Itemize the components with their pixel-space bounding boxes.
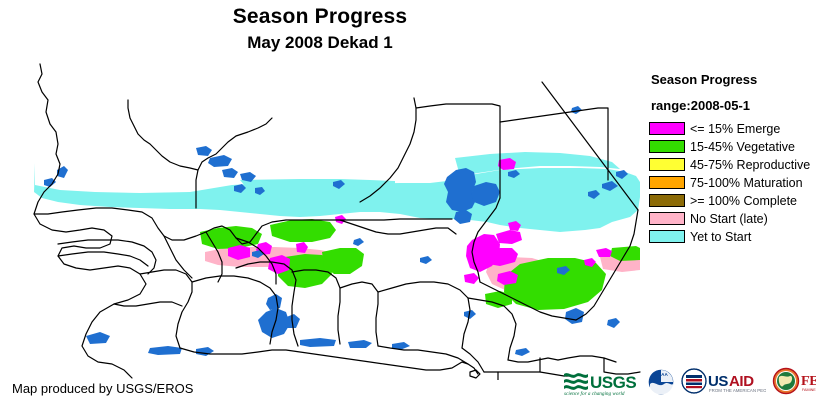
legend-label-yet-to-start: Yet to Start (690, 230, 751, 244)
legend-title: Season Progress (651, 72, 816, 87)
fewsnet-logo[interactable]: FEWS NET FAMINE EARLY WARNING SYSTEMS NE… (772, 367, 816, 397)
legend-item-complete[interactable]: >= 100% Complete (649, 192, 816, 209)
legend-swatch-emerge (649, 122, 685, 135)
legend-swatch-maturation (649, 176, 685, 189)
legend-item-emerge[interactable]: <= 15% Emerge (649, 120, 816, 137)
logo-bar: USGS science for a changing world NOAA U… (563, 365, 816, 399)
legend-item-yet-to-start[interactable]: Yet to Start (649, 228, 816, 245)
season-progress-map[interactable] (0, 62, 645, 380)
svg-text:NOAA: NOAA (654, 372, 668, 377)
legend-item-reproductive[interactable]: 45-75% Reproductive (649, 156, 816, 173)
legend-item-vegetative[interactable]: 15-45% Vegetative (649, 138, 816, 155)
footer-credit: Map produced by USGS/EROS (12, 381, 193, 396)
legend-swatch-complete (649, 194, 685, 207)
legend-item-no-start-late[interactable]: No Start (late) (649, 210, 816, 227)
legend-label-no-start-late: No Start (late) (690, 212, 768, 226)
usgs-logo[interactable]: USGS science for a changing world (563, 367, 641, 397)
legend-label-emerge: <= 15% Emerge (690, 122, 780, 136)
svg-text:science for a changing world: science for a changing world (564, 390, 625, 397)
legend-swatch-vegetative (649, 140, 685, 153)
map-panel[interactable] (0, 62, 645, 380)
legend-swatch-yet-to-start (649, 230, 685, 243)
page-subtitle: May 2008 Dekad 1 (0, 32, 640, 54)
legend-item-maturation[interactable]: 75-100% Maturation (649, 174, 816, 191)
legend-range: range:2008-05-1 (651, 98, 816, 113)
svg-text:USGS: USGS (590, 373, 636, 392)
legend-label-maturation: 75-100% Maturation (690, 176, 803, 190)
legend-swatch-no-start-late (649, 212, 685, 225)
usaid-logo[interactable]: US AID FROM THE AMERICAN PEOPLE (681, 367, 766, 397)
noaa-logo[interactable]: NOAA (647, 367, 675, 397)
svg-text:FEWS NET: FEWS NET (801, 374, 816, 389)
legend-label-reproductive: 45-75% Reproductive (690, 158, 810, 172)
title-block: Season Progress May 2008 Dekad 1 (0, 4, 640, 54)
legend-panel: Season Progress range:2008-05-1 <= 15% E… (649, 72, 816, 246)
legend-label-vegetative: 15-45% Vegetative (690, 140, 795, 154)
page-title: Season Progress (0, 4, 640, 30)
svg-text:FROM THE AMERICAN PEOPLE: FROM THE AMERICAN PEOPLE (709, 388, 766, 393)
legend-label-complete: >= 100% Complete (690, 194, 797, 208)
svg-text:FAMINE EARLY WARNING SYSTEMS N: FAMINE EARLY WARNING SYSTEMS NETWORK (802, 388, 816, 392)
legend-swatch-reproductive (649, 158, 685, 171)
